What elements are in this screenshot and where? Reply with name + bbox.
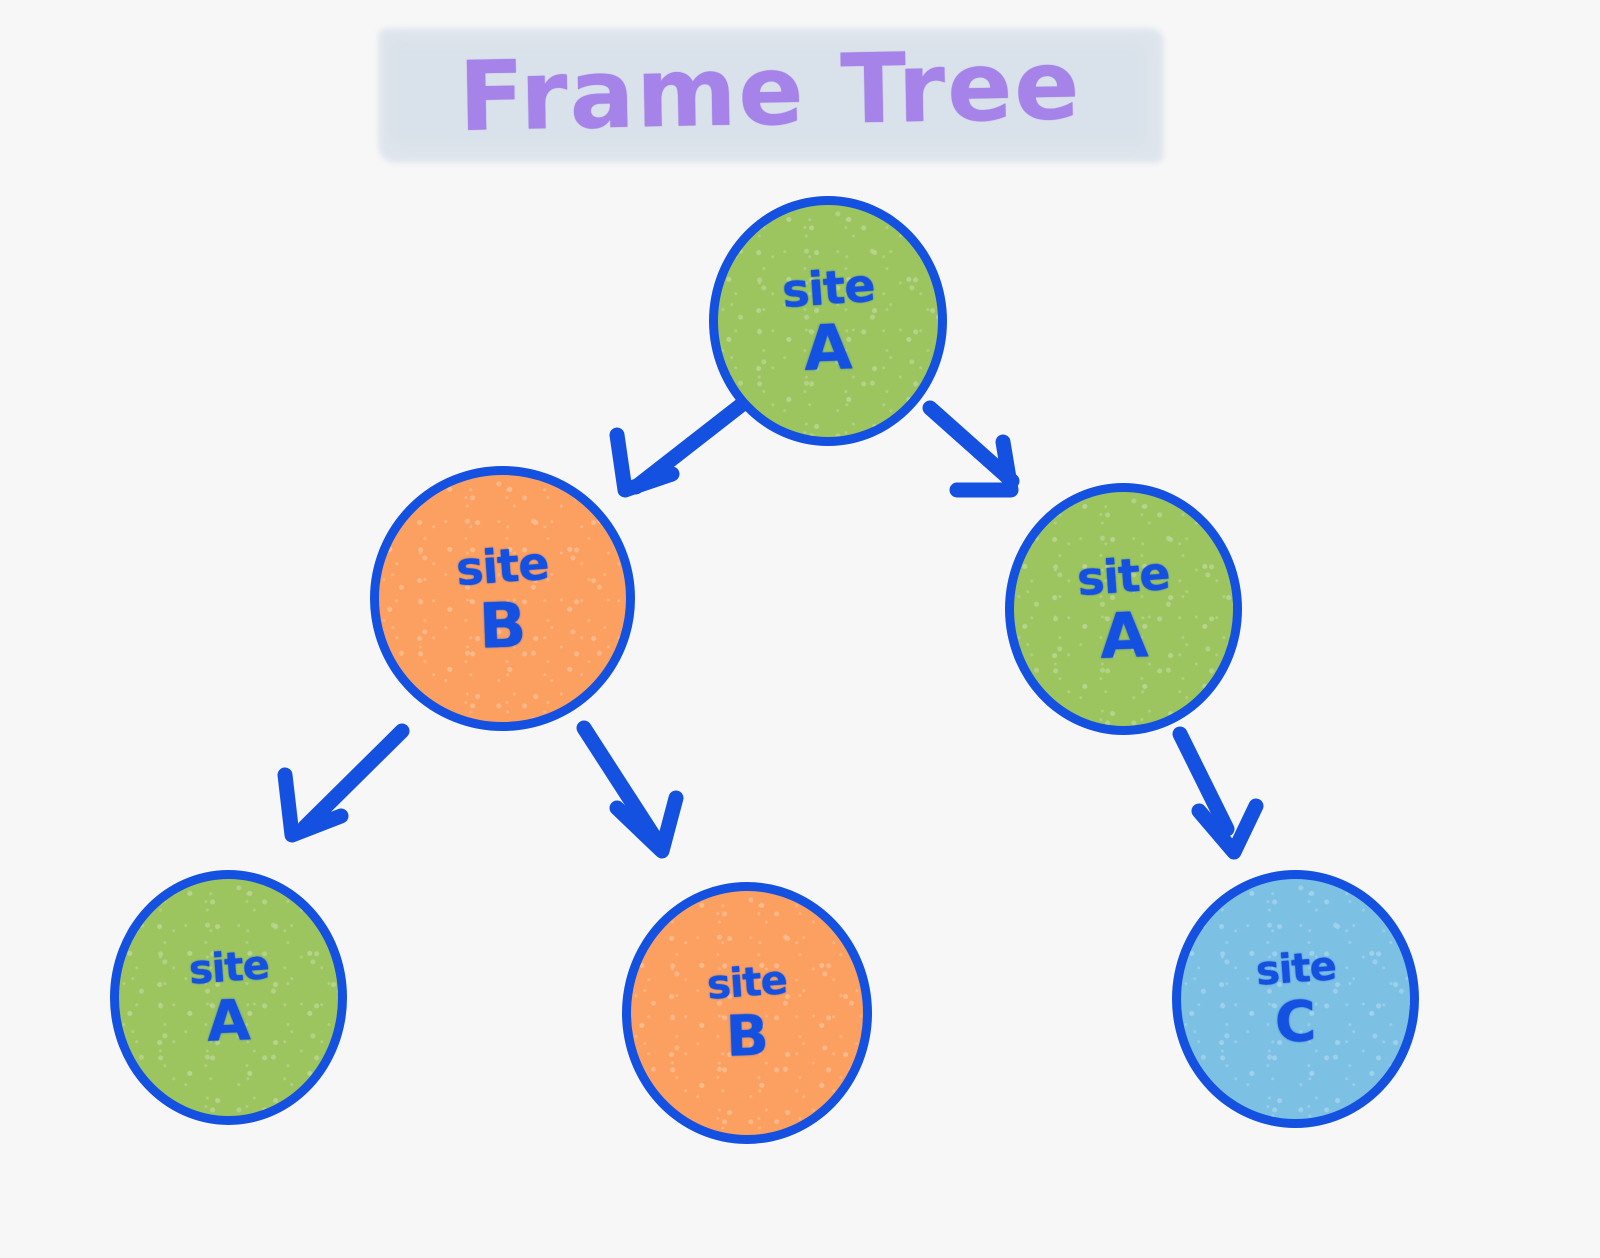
- edge-site-b-to-site-a-bottom: [285, 731, 402, 835]
- node-site-label: site: [706, 958, 789, 1007]
- node-site-b-bottom-center[interactable]: site B: [622, 882, 872, 1144]
- node-site-label: site: [187, 943, 270, 992]
- node-site-label: site: [1076, 548, 1172, 604]
- node-letter-label: B: [478, 594, 527, 658]
- node-site-a-bottom-left[interactable]: site A: [110, 870, 347, 1125]
- node-site-b-middle-left[interactable]: site B: [370, 466, 635, 731]
- node-site-label: site: [1254, 944, 1337, 993]
- node-site-a-middle-right[interactable]: site A: [1005, 483, 1242, 735]
- diagram-canvas: Frame Tree site A: [0, 0, 1600, 1258]
- node-letter-label: A: [206, 993, 251, 1050]
- node-letter-label: B: [725, 1008, 770, 1065]
- node-letter-label: A: [1098, 604, 1148, 668]
- edge-site-b-to-site-b-bottom: [584, 728, 676, 851]
- page-title: Frame Tree: [370, 18, 1170, 168]
- node-root-site-a[interactable]: site A: [709, 196, 947, 446]
- edge-root-to-site-a-right: [930, 408, 1012, 490]
- edge-root-to-site-b: [617, 402, 745, 490]
- node-site-label: site: [455, 537, 551, 593]
- node-site-label: site: [780, 260, 876, 316]
- node-letter-label: C: [1274, 994, 1317, 1051]
- node-letter-label: A: [803, 316, 853, 380]
- edge-site-a-to-site-c: [1180, 734, 1256, 852]
- page-title-text: Frame Tree: [369, 18, 1171, 163]
- node-site-c-bottom-right[interactable]: site C: [1172, 870, 1419, 1128]
